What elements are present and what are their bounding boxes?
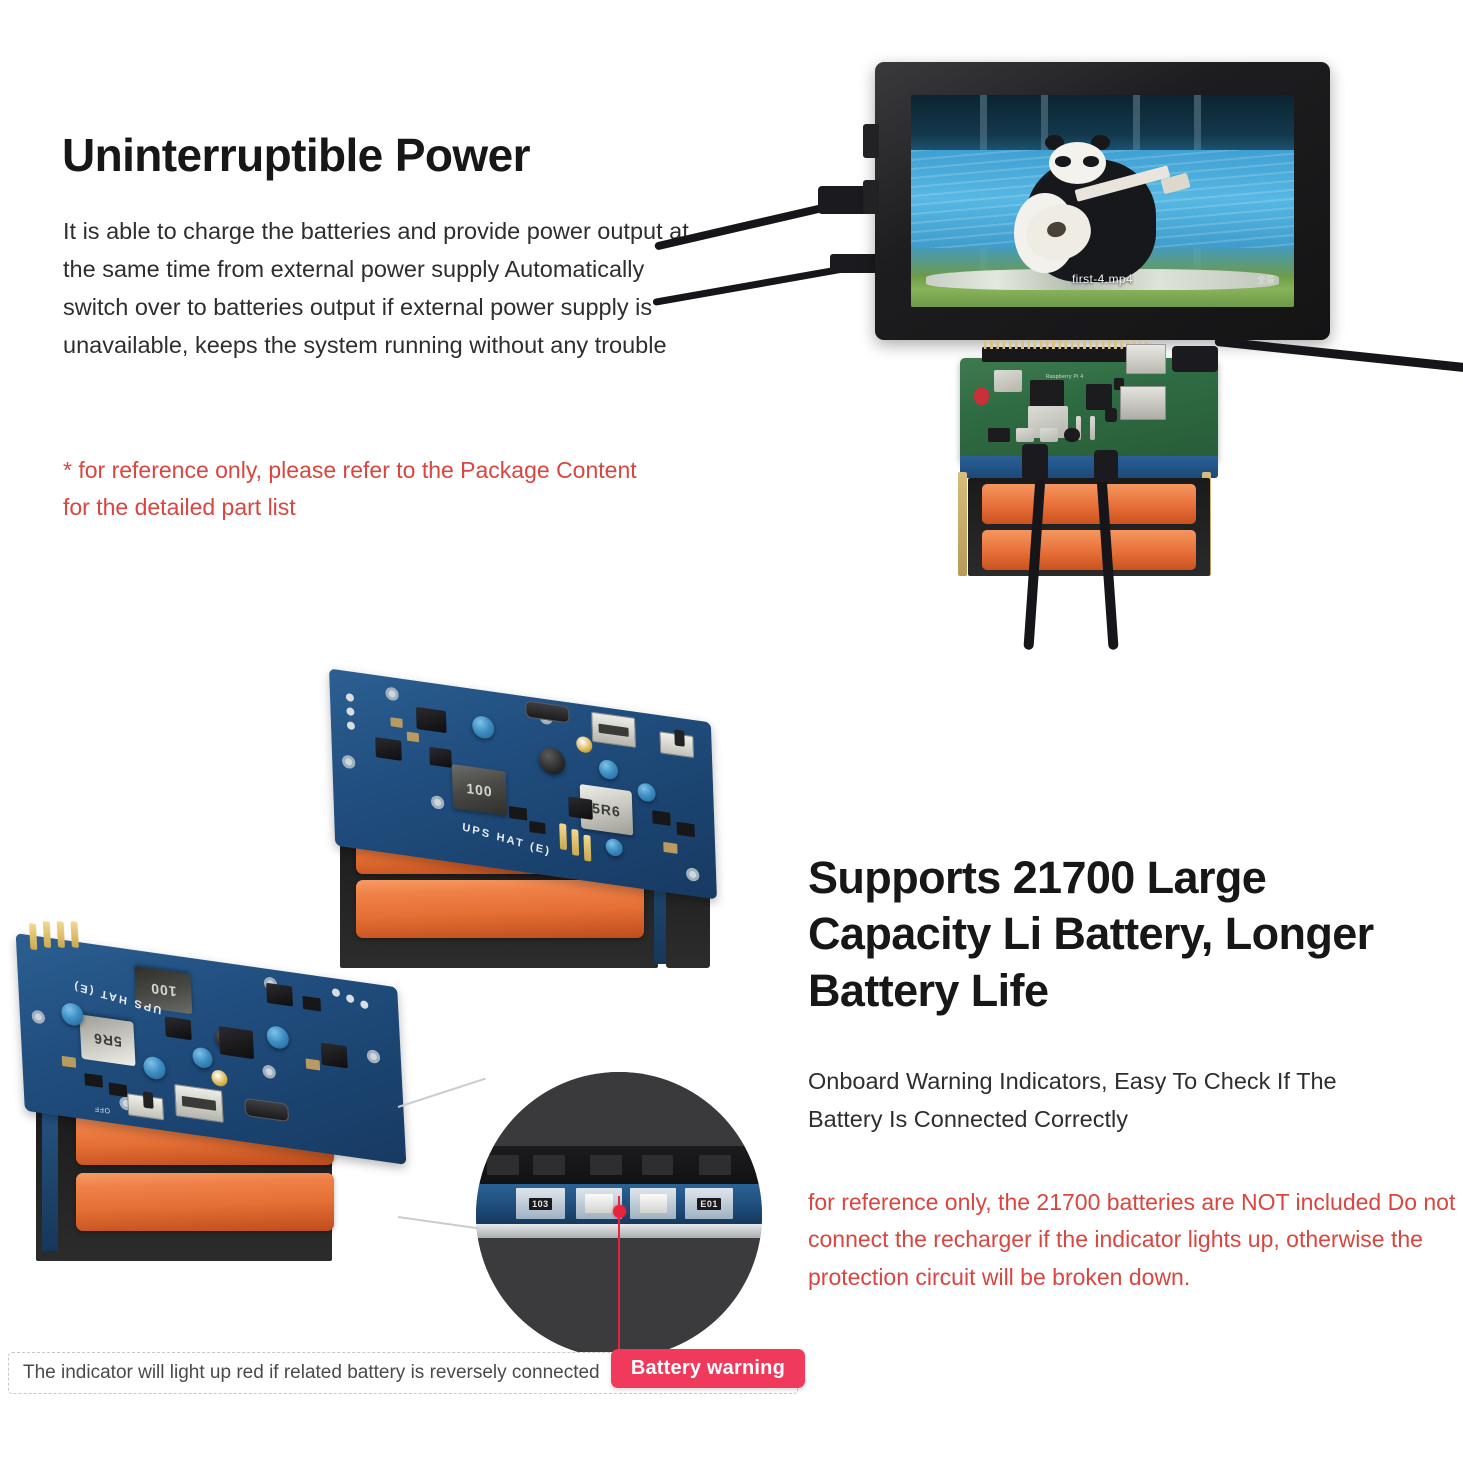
component-pad-103: 103 [516,1188,565,1219]
smd-res-1 [509,806,527,821]
battery-holder [968,478,1210,576]
cap-blue-2 [599,759,619,781]
photo-ups-hat-lower: 100 5R6 OFF [8,935,448,1280]
ups-hat-edge [960,456,1218,478]
display-port-tab-bottom [863,180,879,214]
caption-text: The indicator will light up red if relat… [9,1362,600,1384]
standoff-left [958,472,967,576]
indicator-led-2 [630,1188,676,1219]
hdmi-cable [654,200,841,251]
cap-black-1 [539,746,566,776]
hdmi-display: first-4.mp4 全景 [875,62,1330,340]
mount-hole-3 [342,754,355,769]
ic-chip-4 [568,796,593,820]
heading-uninterruptible-power: Uninterruptible Power [62,128,682,182]
pi-pin-b [1090,416,1095,440]
pi-ethernet-port [1120,386,1166,420]
pi-hdmi1 [1040,428,1058,442]
upper-battery-cell-bottom [356,880,644,938]
caption-bar: The indicator will light up red if relat… [8,1352,798,1394]
smd-res-4 [676,822,694,838]
ic-chip-l1 [219,1026,254,1059]
lower-battery-cell-bottom [76,1173,334,1231]
ic-chip-l4 [321,1043,348,1069]
pi-usb-cable-plug [1172,346,1218,372]
cap-blue-4 [605,838,623,857]
pi-component [1105,408,1117,422]
cap-blue-l4 [266,1025,289,1050]
smd-res-3 [652,810,670,826]
heading-supports-21700: Supports 21700 Large Capacity Li Battery… [808,850,1408,1019]
smd-tan-2 [407,732,419,743]
note-package-content: * for reference only, please refer to th… [63,452,663,527]
ic-chip-2 [375,737,402,761]
battery-cell-bottom [982,530,1196,570]
marker-leader-line [618,1196,620,1356]
paragraph-uninterruptible-power: It is able to charge the batteries and p… [63,212,708,364]
magnifier-black-bar [476,1146,762,1183]
cap-blue-l1 [61,1002,84,1027]
smd-res-l1 [84,1073,103,1088]
raspberry-logo-icon [974,388,989,405]
ic-chip-3 [429,747,452,768]
smd-tan-3 [663,842,677,854]
usb-power-plug [830,254,880,273]
paragraph-onboard-indicators: Onboard Warning Indicators, Easy To Chec… [808,1062,1408,1138]
display-screen: first-4.mp4 全景 [911,95,1294,307]
smd-tan-l2 [306,1058,321,1070]
video-filename-overlay: first-4.mp4 [911,272,1294,286]
display-port-tab-top [863,124,879,158]
mount-hole-l3 [262,1064,276,1079]
cap-blue-1 [472,715,495,740]
inductor-100: 100 [452,764,508,816]
note-battery-warning: for reference only, the 21700 batteries … [808,1184,1458,1296]
pi-ram [1086,384,1112,410]
pi-usb3-port [1126,344,1166,374]
ic-chip-1 [416,707,447,733]
front-plug-right [1094,450,1118,482]
smd-res-l3 [302,996,321,1012]
ic-chip-l2 [165,1016,192,1040]
component-label-e01: E01 [697,1198,721,1210]
waveshare-logo-icon-lower [211,1069,228,1087]
pi-wifi-shield [994,370,1022,392]
mount-hole-l1 [32,1009,46,1024]
component-label-103: 103 [529,1198,552,1210]
lower-side-board [42,1111,58,1251]
battery-cell-top [982,484,1196,524]
usb-power-cable [652,265,846,306]
raspberry-pi-board: Raspberry Pi 4 [960,358,1218,462]
pi-usbc-power [988,428,1010,442]
cap-blue-3 [637,782,656,803]
mount-hole-l4 [367,1049,381,1064]
power-switch [659,731,694,758]
smd-res-2 [529,821,545,834]
page-root: Uninterruptible Power It is able to char… [0,0,1463,1463]
smd-tan-l1 [62,1056,77,1068]
mount-hole-1 [385,686,398,701]
usb-a-port-lower [174,1084,224,1123]
usb-c-port [525,700,570,723]
usb-a-port [591,712,636,748]
panda-eye-left [1055,156,1071,167]
pi-audio-jack [1064,428,1080,442]
smd-tan-1 [390,717,402,728]
screen-watermark: 全景 [1257,273,1275,286]
photo-display-with-pi-and-ups: first-4.mp4 全景 Raspberry Pi 4 [650,40,1463,640]
usb-c-port-lower [244,1098,289,1122]
front-plug-left [1022,444,1048,480]
status-badge-battery-warning: Battery warning [611,1349,805,1388]
pi-usb-cable [1214,337,1463,378]
mount-hole-4 [431,795,444,810]
inductor-5r6-lower: 5R6 [79,1014,135,1066]
pi-hdmi0 [1016,428,1034,442]
switch-off-label: OFF [94,1104,110,1113]
component-pad-e01: E01 [685,1188,734,1219]
waveshare-logo-icon [576,735,593,753]
cap-blue-l3 [192,1046,213,1069]
mount-hole-5 [686,867,699,882]
power-switch-lower [127,1093,164,1120]
smd-res-l2 [109,1083,128,1098]
ic-chip-l3 [266,983,293,1007]
cap-blue-l2 [143,1055,166,1080]
